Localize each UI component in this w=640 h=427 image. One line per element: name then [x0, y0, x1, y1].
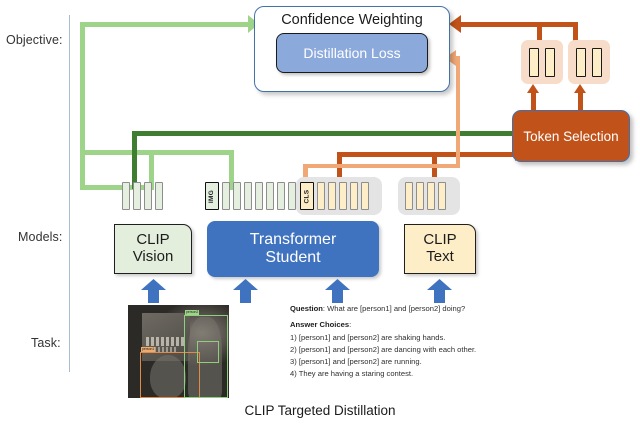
green-dark-riser	[132, 131, 137, 189]
token	[155, 182, 163, 210]
confidence-weighting-title: Confidence Weighting	[281, 12, 423, 28]
green-path-mid-rail	[80, 150, 234, 155]
token-strip-text-teacher	[405, 182, 446, 210]
token-cls-label: CLS	[304, 189, 311, 203]
token	[266, 182, 274, 210]
photo-sign-text	[146, 337, 186, 346]
task-qa-block: Question: What are [person1] and [person…	[290, 303, 620, 381]
clip-text-line1: CLIP	[423, 232, 456, 249]
answer-choices-colon: :	[349, 320, 351, 329]
figure-canvas: Objective: Models: Task: Confidence Weig…	[0, 0, 640, 427]
distillation-loss-box: Distillation Loss	[276, 33, 428, 73]
answer-choices-header: Answer Choices:	[290, 319, 620, 331]
transformer-student-line2: Student	[265, 249, 320, 267]
selected-token	[529, 48, 539, 77]
orange-riser-selection-out-right	[578, 92, 583, 112]
token-strip-student-text: CLS	[300, 182, 369, 210]
token-cls: CLS	[300, 182, 314, 210]
question-text: : What are [person1] and [person2] doing…	[323, 304, 465, 313]
question-line: Question: What are [person1] and [person…	[290, 303, 620, 315]
selected-token	[576, 48, 586, 77]
green-path-left-vertical	[80, 22, 85, 190]
token	[233, 182, 241, 210]
token	[122, 182, 130, 210]
clip-text-box: CLIP Text	[404, 224, 476, 274]
green-path-top-horizontal	[80, 22, 248, 27]
clip-text-line2: Text	[426, 249, 454, 266]
up-arrow-vision	[141, 279, 166, 303]
selected-token-group-1	[521, 40, 563, 84]
answer-choices-label: Answer Choices	[290, 320, 349, 329]
token-strip-student-image: IMG	[205, 182, 296, 210]
token	[277, 182, 285, 210]
orange-top-riser-right	[573, 22, 578, 41]
token-img: IMG	[205, 182, 219, 210]
token-strip-vision-teacher	[122, 182, 163, 210]
answer-choice-4: 4) They are having a staring contest.	[290, 368, 620, 380]
selected-token	[592, 48, 602, 77]
selected-token-group-2	[568, 40, 610, 84]
row-label-models: Models:	[18, 230, 62, 244]
clip-vision-line1: CLIP	[136, 232, 169, 249]
bbox-face	[197, 341, 219, 363]
token	[288, 182, 296, 210]
token	[427, 182, 435, 210]
up-arrow-student-image	[233, 279, 258, 303]
transformer-student-line1: Transformer	[250, 231, 337, 249]
token	[222, 182, 230, 210]
token	[405, 182, 413, 210]
orange-top-riser-left	[537, 22, 542, 41]
orange-riser-selection-out-left	[531, 92, 536, 112]
token	[244, 182, 252, 210]
clip-vision-box: CLIP Vision	[114, 224, 192, 274]
orange-top-rail	[460, 22, 578, 27]
token	[255, 182, 263, 210]
answer-choice-3: 3) [person1] and [person2] are running.	[290, 356, 620, 368]
orange-arrowhead-out-left	[527, 84, 539, 93]
token	[317, 182, 325, 210]
token	[144, 182, 152, 210]
answer-choice-1: 1) [person1] and [person2] are shaking h…	[290, 332, 620, 344]
bbox-tag-person1: person1	[141, 347, 155, 352]
section-divider	[69, 15, 70, 372]
token	[133, 182, 141, 210]
bbox-tag-person2: person2	[185, 310, 199, 315]
token	[328, 182, 336, 210]
up-arrow-student-text	[325, 279, 350, 303]
clip-vision-line2: Vision	[133, 249, 174, 266]
orange-arrowhead-out-right	[574, 84, 586, 93]
orange-light-vertical	[456, 56, 460, 168]
token	[350, 182, 358, 210]
row-label-task: Task:	[31, 336, 61, 350]
token-selection-box: Token Selection	[512, 110, 630, 162]
answer-choice-2: 2) [person1] and [person2] are dancing w…	[290, 344, 620, 356]
task-image: person1 person2	[128, 305, 229, 398]
transformer-student-box: Transformer Student	[207, 221, 379, 277]
confidence-weighting-box: Confidence Weighting Distillation Loss	[254, 6, 450, 92]
token	[361, 182, 369, 210]
question-label: Question	[290, 304, 323, 313]
token	[438, 182, 446, 210]
token	[339, 182, 347, 210]
token-img-label: IMG	[209, 189, 216, 202]
row-label-objective: Objective:	[6, 33, 63, 47]
selected-token	[545, 48, 555, 77]
orange-arrowhead-to-confidence-weighting	[449, 15, 461, 33]
token	[416, 182, 424, 210]
orange-light-rail	[303, 164, 460, 168]
up-arrow-text	[427, 279, 452, 303]
orange-rail-to-token-selection	[337, 152, 517, 157]
figure-caption: CLIP Targeted Distillation	[0, 403, 640, 418]
